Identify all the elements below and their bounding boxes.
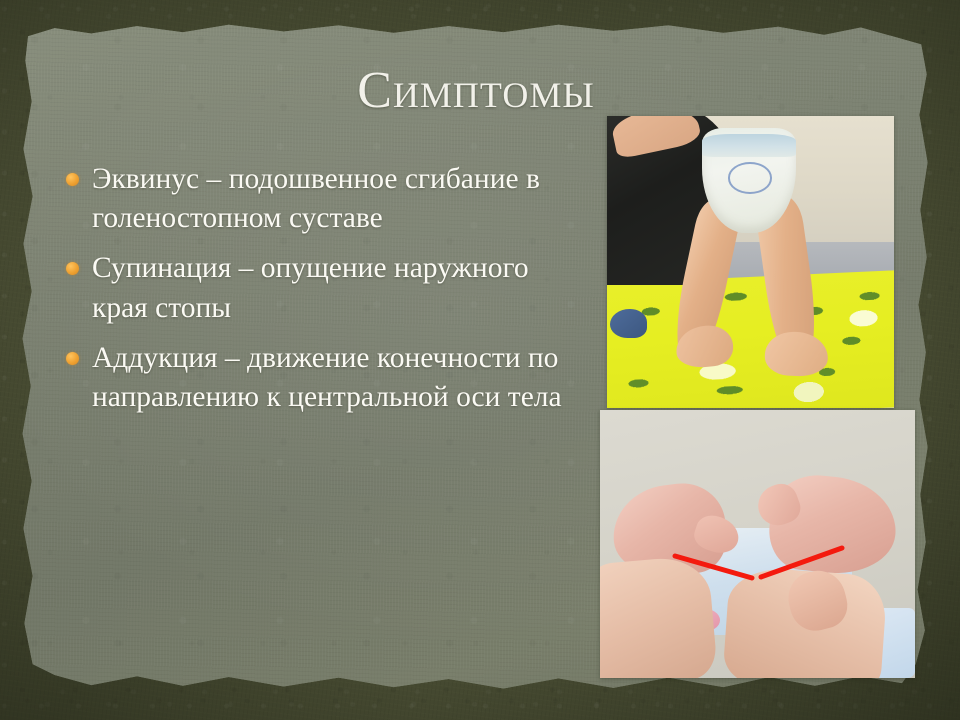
photo-layer <box>0 0 960 720</box>
photo-diaper-waistband <box>702 134 797 157</box>
photo-toddler-on-yellow-mat <box>607 116 894 408</box>
photo-blue-object <box>610 309 647 338</box>
photo-infant-feet-annotated <box>600 410 915 678</box>
photo-mat-pattern <box>607 270 894 408</box>
photo-red-axis-annotation <box>600 410 915 678</box>
slide-root: Симптомы Эквинус – подошвенное сгибание … <box>0 0 960 720</box>
photo-diaper-print <box>728 162 772 193</box>
photo-yellow-mat <box>607 270 894 408</box>
